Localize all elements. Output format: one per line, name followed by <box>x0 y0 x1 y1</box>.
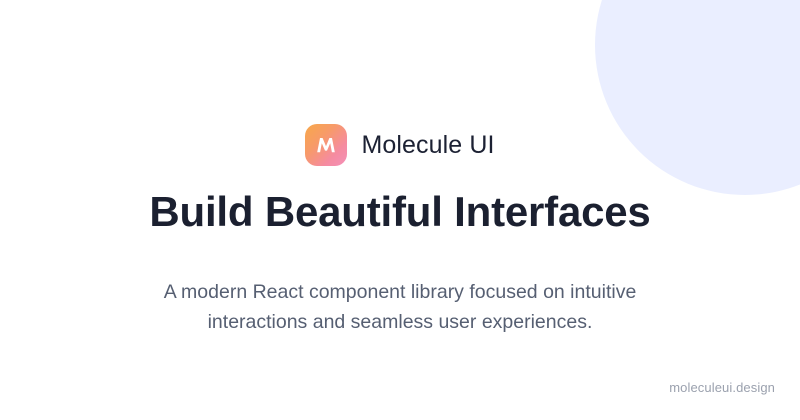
hero-subtitle: A modern React component library focused… <box>164 277 637 337</box>
brand-lockup: Molecule UI <box>305 122 494 168</box>
page-title: Build Beautiful Interfaces <box>149 190 650 235</box>
hero-subtitle-line-2: interactions and seamless user experienc… <box>164 307 637 337</box>
hero-banner: Molecule UI Build Beautiful Interfaces A… <box>0 0 800 420</box>
molecule-logo-icon <box>305 124 347 166</box>
footer-website-url[interactable]: moleculeui.design <box>669 381 775 394</box>
brand-name: Molecule UI <box>361 133 494 158</box>
hero-content: Molecule UI Build Beautiful Interfaces A… <box>0 0 800 420</box>
hero-subtitle-line-1: A modern React component library focused… <box>164 277 637 307</box>
